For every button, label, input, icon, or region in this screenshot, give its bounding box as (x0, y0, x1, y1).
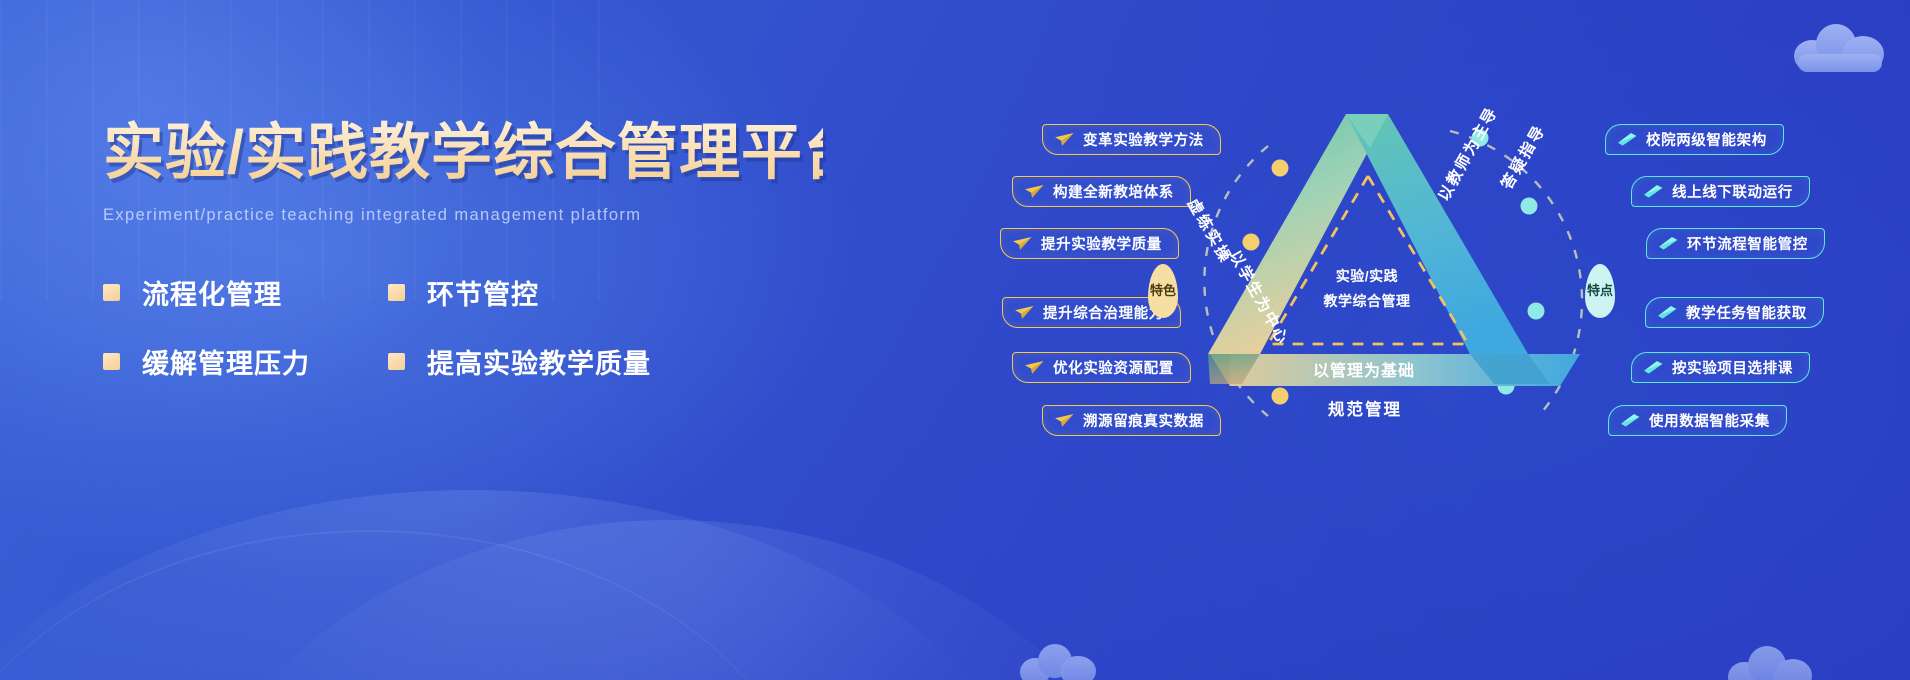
feature-label: 流程化管理 (142, 273, 282, 312)
triangle-center-line-2: 教学综合管理 (1302, 289, 1432, 314)
hero-banner: 实验/实践教学综合管理平台 Experiment/practice teachi… (0, 0, 1910, 680)
triangle-diagram: 特色 特点 以学生为中心 以教师为主导 实验/实践 教学综合管理 以管理为基础 … (1150, 96, 1690, 456)
feature-label: 提高实验教学质量 (427, 342, 651, 381)
bullet-square-icon (103, 353, 120, 370)
pill-label: 环节流程智能管控 (1687, 233, 1808, 254)
pill-label: 线上线下联动运行 (1672, 181, 1793, 202)
triangle-base-label: 以管理为基础 (1313, 357, 1415, 381)
page-subtitle: Experiment/practice teaching integrated … (103, 206, 823, 225)
background-wave-3 (0, 530, 820, 680)
feature-item: 提高实验教学质量 (388, 342, 673, 381)
bullet-square-icon (388, 353, 405, 370)
background-wave-1 (0, 490, 1060, 680)
triangle-center-line-1: 实验/实践 (1302, 264, 1432, 289)
paper-plane-icon (1013, 237, 1032, 250)
paper-plane-icon (1025, 361, 1044, 374)
paper-plane-icon (1015, 306, 1034, 319)
pill-label: 教学任务智能获取 (1686, 302, 1807, 323)
feature-row: 流程化管理 环节管控 (103, 273, 723, 312)
paper-plane-icon (1055, 133, 1074, 146)
paper-plane-icon (1055, 414, 1074, 427)
pill-label: 提升实验教学质量 (1041, 233, 1162, 254)
bullet-square-icon (388, 284, 405, 301)
pill-label: 按实验项目选排课 (1672, 357, 1793, 378)
cloud-icon (1020, 644, 1098, 680)
feature-item: 环节管控 (388, 273, 673, 312)
cloud-icon (1728, 646, 1814, 680)
diagram-caption: 规范管理 (1328, 396, 1402, 420)
feature-item: 流程化管理 (103, 273, 388, 312)
bullet-square-icon (103, 284, 120, 301)
page-title: 实验/实践教学综合管理平台 (103, 118, 823, 186)
feature-row: 缓解管理压力 提高实验教学质量 (103, 342, 723, 381)
feature-label: 缓解管理压力 (142, 342, 310, 381)
paper-plane-icon (1025, 185, 1044, 198)
feature-item: 缓解管理压力 (103, 342, 388, 381)
feature-label: 环节管控 (427, 273, 539, 312)
hero-text-block: 实验/实践教学综合管理平台 Experiment/practice teachi… (103, 118, 823, 381)
triangle-center-text: 实验/实践 教学综合管理 (1302, 264, 1432, 313)
pill-label: 提升综合治理能力 (1043, 302, 1164, 323)
background-wave-2 (160, 520, 1180, 680)
feature-list: 流程化管理 环节管控 缓解管理压力 提高实验教学质量 (103, 273, 723, 381)
cloud-icon (1794, 22, 1886, 72)
